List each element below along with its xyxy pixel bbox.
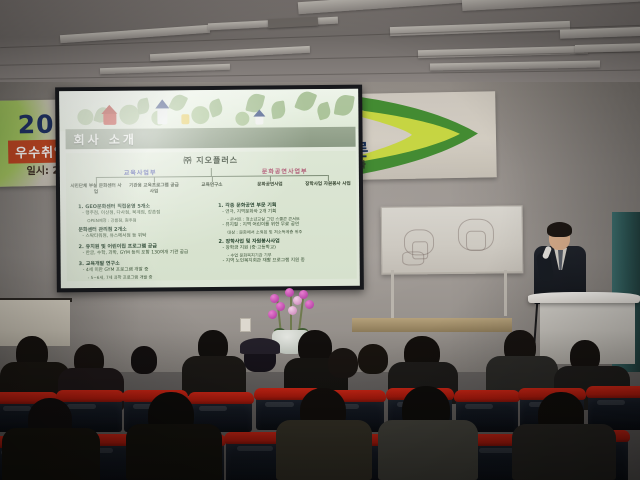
right-item-3-sub: - 지역 노인복지회관 재활 프로그램 지원 중 xyxy=(219,258,353,266)
attendee-head xyxy=(131,346,157,374)
org-tag-right: 문화공연사업부 xyxy=(262,166,308,175)
attendee-head xyxy=(358,344,388,374)
whiteboard-leg-right xyxy=(504,270,507,316)
whiteboard xyxy=(381,205,524,274)
slide-left-column: 1. GEO문화센터 직접운영 5개소 - 행주점, 이산점, 다사점, 북계점… xyxy=(78,200,211,281)
attendee-shoulders xyxy=(2,428,100,480)
left-item-3-sub2: - 5~6세, 7세 과학 프로그램 개발 중 xyxy=(79,274,211,281)
left-item-0-sub2: OPEN예정 : 강릉점, 원주점 xyxy=(78,217,210,224)
left-item-1-sub: - 스탁타워점, 유스에서점 등 위탁 xyxy=(78,233,210,241)
slide-body: ㈜ 지오플러스 교육사업부 문화공연사업부 시민단체 부설 문화센터 사업 기관… xyxy=(66,151,357,282)
org-branch-1: 기관용 교육프로그램 공급 사업 xyxy=(128,183,180,196)
org-tag-left: 교육사업부 xyxy=(124,167,157,176)
org-root-label: ㈜ 지오플러스 xyxy=(66,154,356,168)
org-branch-4: 장학사업 자원봉사 사업 xyxy=(302,182,354,189)
wall-outlet xyxy=(240,318,251,332)
attendee-shoulders xyxy=(126,424,222,480)
attendee-shoulders xyxy=(512,424,616,480)
org-branch-3: 문화공연사업 xyxy=(244,182,296,189)
slide-title: 회사 소개 xyxy=(73,131,136,149)
wooden-counter xyxy=(352,318,512,332)
cap-icon xyxy=(240,338,280,354)
left-item-2-sub: - 한글, 수학, 과학, GYM 등의 포함 130여개 기관 공급 xyxy=(79,250,211,258)
podium-top xyxy=(528,292,640,303)
attendee-shoulders xyxy=(378,420,478,480)
org-branch-0: 시민단체 부설 문화센터 사업 xyxy=(70,184,122,197)
attendee-shoulders xyxy=(182,356,246,396)
projected-slide: 회사 소개 ㈜ 지오플러스 교육사업부 문화공연사업부 시민단체 부설 문화센터… xyxy=(59,89,360,289)
photo-scene: 200 우수취업 일시: 2009. 수회 공전략토론 대학교 환경공학과 xyxy=(0,0,640,480)
attendee-head xyxy=(328,348,358,378)
projection-screen: 회사 소개 ㈜ 지오플러스 교육사업부 문화공연사업부 시민단체 부설 문화센터… xyxy=(55,85,364,293)
right-item-1-sub2: 대상 : 문화에서 소외된 및 저소득계층 위주 xyxy=(218,228,352,235)
slide-right-column: 1. 각종 문화공연 부문 기획 - 연극, 지역문화와 2개 기획 - 콘서트… xyxy=(218,199,353,266)
attendee-shoulders xyxy=(276,420,372,480)
org-branch-2: 교육연구소 xyxy=(186,183,238,190)
ceiling xyxy=(0,0,640,84)
speaker-hair xyxy=(547,222,572,237)
whiteboard-leg-left xyxy=(391,270,394,318)
slide-header-illustration xyxy=(59,89,358,132)
